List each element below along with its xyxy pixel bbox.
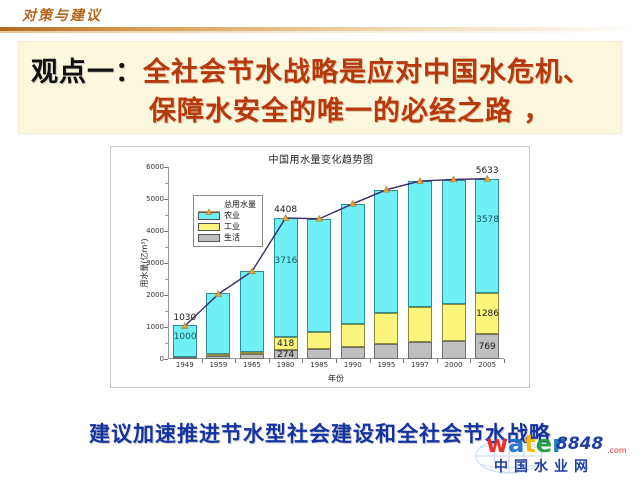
x-axis-tick-label: 2005 bbox=[470, 361, 504, 369]
legend-swatch-domestic bbox=[198, 234, 220, 242]
bar-segment-domestic bbox=[341, 347, 365, 359]
legend-swatch-industry bbox=[198, 223, 220, 231]
bar-segment-agriculture bbox=[206, 293, 230, 354]
total-value-label: 5633 bbox=[465, 166, 509, 176]
chart-legend: 总用水量 农业 工业 生活 bbox=[193, 195, 263, 247]
total-value-label: 4408 bbox=[264, 205, 308, 215]
watermark-number: 8848 bbox=[556, 434, 603, 454]
table-row bbox=[341, 204, 365, 359]
y-axis-tick-label: 5000 bbox=[136, 195, 164, 203]
bar-segment-domestic bbox=[374, 344, 398, 359]
bar-segment-domestic bbox=[240, 354, 264, 359]
bar-segment-domestic bbox=[307, 349, 331, 359]
y-axis-tick-label: 4000 bbox=[136, 227, 164, 235]
bar-segment-industry bbox=[307, 332, 331, 349]
bar-segment-agriculture bbox=[374, 190, 398, 313]
legend-label-industry: 工业 bbox=[224, 221, 240, 232]
table-row: 2744183716 bbox=[274, 218, 298, 359]
bar-segment-domestic bbox=[442, 341, 466, 359]
chart-title: 中国用水量变化趋势图 bbox=[111, 151, 531, 166]
line-marker-icon bbox=[198, 201, 220, 209]
x-axis-tick-label: 1980 bbox=[269, 361, 303, 369]
bar-segment-agriculture: 3578 bbox=[475, 179, 499, 293]
table-row bbox=[206, 293, 230, 359]
bar-value-label: 769 bbox=[476, 342, 498, 352]
legend-label-agriculture: 农业 bbox=[224, 210, 240, 221]
table-row bbox=[307, 219, 331, 359]
header-divider-secondary bbox=[0, 31, 640, 33]
legend-label-domestic: 生活 bbox=[224, 232, 240, 243]
x-axis-tick-label: 1949 bbox=[168, 361, 202, 369]
bar-segment-agriculture bbox=[240, 271, 264, 352]
bar-value-label: 274 bbox=[275, 350, 297, 360]
y-axis-tick-mark bbox=[164, 359, 168, 360]
statement-prefix: 观点一： bbox=[31, 57, 143, 88]
header-title: 对策与建议 bbox=[22, 5, 102, 25]
watermark-letter: w bbox=[486, 430, 508, 458]
total-value-label: 1030 bbox=[163, 313, 207, 323]
bar-segment-domestic: 274 bbox=[274, 350, 298, 359]
bar-value-label: 1286 bbox=[476, 309, 498, 319]
bar-segment-industry bbox=[374, 313, 398, 344]
legend-label-total: 总用水量 bbox=[224, 199, 256, 210]
watermark-chinese: 中国水业网 bbox=[494, 456, 594, 476]
statement-line-1: 观点一：全社会节水战略是应对中国水危机、 bbox=[31, 50, 591, 89]
watermark-wordmark: water bbox=[486, 430, 564, 458]
slide-header: 对策与建议 bbox=[0, 0, 640, 34]
bar-value-label: 3716 bbox=[275, 256, 297, 266]
x-axis-tick-label: 1995 bbox=[370, 361, 404, 369]
watermark-letter: t bbox=[524, 430, 535, 458]
statement-line-2: 保障水安全的唯一的必经之路 ， bbox=[149, 89, 551, 128]
bar-value-label: 418 bbox=[275, 339, 297, 349]
x-axis-tick-label: 2000 bbox=[437, 361, 471, 369]
bar-segment-domestic bbox=[173, 357, 197, 359]
bar-segment-domestic bbox=[408, 342, 432, 359]
bar-segment-agriculture: 1000 bbox=[173, 325, 197, 357]
y-axis-tick-label: 3000 bbox=[136, 259, 164, 267]
x-axis-label: 年份 bbox=[168, 373, 504, 384]
statement-body-1: 全社会节水战略是应对中国水危机、 bbox=[143, 57, 591, 88]
y-axis-tick-label: 1000 bbox=[136, 323, 164, 331]
bar-segment-industry bbox=[408, 307, 432, 343]
x-axis-tick-label: 1997 bbox=[403, 361, 437, 369]
legend-item-industry: 工业 bbox=[198, 221, 256, 232]
x-axis-tick-mark bbox=[504, 359, 505, 363]
bar-segment-industry bbox=[442, 304, 466, 341]
chart-plot-area: 用水量(亿m³) 0100020003000400050006000 10002… bbox=[168, 167, 504, 359]
watermark-letter: a bbox=[508, 430, 524, 458]
y-axis-tick-label: 6000 bbox=[136, 163, 164, 171]
table-row bbox=[408, 181, 432, 359]
statement-body-2: 保障水安全的唯一的必经之路 ， bbox=[149, 96, 551, 127]
x-axis-tick-label: 1965 bbox=[235, 361, 269, 369]
table-row: 1000 bbox=[173, 325, 197, 359]
bar-segment-agriculture bbox=[442, 180, 466, 304]
legend-item-total: 总用水量 bbox=[198, 199, 256, 210]
x-axis-tick-label: 1959 bbox=[202, 361, 236, 369]
chart-card: 中国用水量变化趋势图 用水量(亿m³) 01000200030004000500… bbox=[110, 146, 530, 388]
bar-segment-agriculture bbox=[408, 181, 432, 306]
statement-box: 观点一：全社会节水战略是应对中国水危机、 保障水安全的唯一的必经之路 ， bbox=[18, 41, 622, 134]
bar-segment-industry: 418 bbox=[274, 337, 298, 350]
legend-item-domestic: 生活 bbox=[198, 232, 256, 243]
y-axis-tick-label: 2000 bbox=[136, 291, 164, 299]
bar-segment-industry: 1286 bbox=[475, 293, 499, 334]
table-row bbox=[374, 190, 398, 359]
bar-segment-agriculture bbox=[341, 204, 365, 325]
bar-segment-agriculture bbox=[307, 219, 331, 332]
y-axis-tick-label: 0 bbox=[136, 355, 164, 363]
watermark-tld: .com bbox=[607, 446, 627, 455]
watermark-letter: e bbox=[536, 430, 552, 458]
x-axis-tick-label: 1985 bbox=[302, 361, 336, 369]
bar-segment-industry bbox=[341, 324, 365, 346]
bar-segment-industry bbox=[206, 354, 230, 356]
bar-value-label: 3578 bbox=[476, 215, 498, 225]
table-row bbox=[240, 271, 264, 359]
table-row: 76912863578 bbox=[475, 179, 499, 359]
bar-value-label: 1000 bbox=[174, 332, 196, 342]
bar-segment-industry bbox=[240, 352, 264, 354]
bar-segment-agriculture: 3716 bbox=[274, 218, 298, 337]
bar-segment-domestic: 769 bbox=[475, 334, 499, 359]
bar-segment-domestic bbox=[206, 356, 230, 359]
table-row bbox=[442, 180, 466, 360]
watermark: water 8848 .com 中国水业网 bbox=[474, 430, 634, 478]
x-axis-tick-label: 1990 bbox=[336, 361, 370, 369]
